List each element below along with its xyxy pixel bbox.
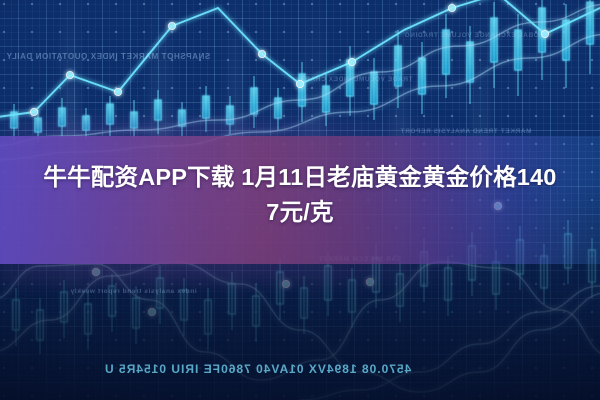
- page-title: 牛牛配资APP下载 1月11日老庙黄金黄金价格140 7元/克: [0, 160, 600, 230]
- headline-line-2: 7元/克: [6, 195, 594, 230]
- headline-line-1: 牛牛配资APP下载 1月11日老庙黄金黄金价格140: [6, 160, 594, 195]
- promo-banner: SNAPSHOT MARKET INDEX QUOTATION DAILY GL…: [0, 0, 600, 400]
